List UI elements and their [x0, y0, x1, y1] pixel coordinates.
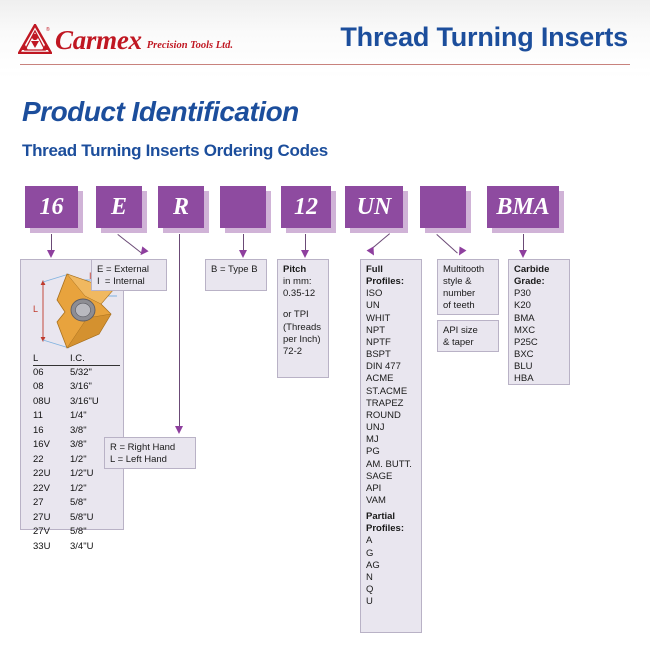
- table-cell-ic: 5/8": [70, 496, 120, 511]
- table-cell-l: 22V: [33, 482, 70, 497]
- full-profile-item: WHIT: [366, 313, 416, 325]
- logo-wordmark: Carmex: [55, 27, 142, 54]
- partial-profiles-title-1: Partial: [366, 511, 416, 523]
- code-box-type[interactable]: [220, 186, 266, 228]
- pitch-tpi-label: or TPI: [283, 309, 323, 321]
- table-cell-l: 33U: [33, 540, 70, 555]
- table-cell-ic: 1/4": [70, 409, 120, 424]
- internal-line: I = Internal: [97, 276, 161, 288]
- table-cell-ic: 5/8": [70, 525, 120, 540]
- table-cell-ic: 3/16": [70, 380, 120, 395]
- grade-item: P30: [514, 288, 564, 300]
- code-box-pitch[interactable]: 12: [281, 186, 331, 228]
- pitch-tpi-range: 72-2: [283, 346, 323, 358]
- table-cell-l: 22: [33, 453, 70, 468]
- callout-insert-dimensions: L I.C. L I.C. 065/32"083/16"08U3/16"U111…: [20, 259, 124, 530]
- multitooth-line-2: style &: [443, 276, 493, 288]
- table-row: 08U3/16"U: [33, 395, 137, 410]
- full-profiles-title-2: Profiles:: [366, 276, 416, 288]
- full-profile-item: ACME: [366, 373, 416, 385]
- connector-arrow-multitooth: [456, 247, 467, 258]
- callout-api: API size & taper: [437, 320, 499, 352]
- table-cell-l: 08U: [33, 395, 70, 410]
- full-profile-item: PG: [366, 446, 416, 458]
- table-row: 27U5/8"U: [33, 511, 137, 526]
- connector-line-multitooth: [436, 234, 457, 253]
- grade-item: HBA: [514, 373, 564, 385]
- full-profile-item: VAM: [366, 495, 416, 507]
- table-row: 22U1/2"U: [33, 467, 137, 482]
- page-header: ® Carmex Precision Tools Ltd. Thread Tur…: [0, 0, 650, 72]
- page-title: Thread Turning Inserts: [340, 22, 628, 53]
- carmex-triangle-logo-icon: ®: [18, 24, 52, 54]
- full-profile-item: ROUND: [366, 410, 416, 422]
- section-title: Product Identification: [22, 96, 299, 128]
- pitch-spacer: [283, 300, 323, 309]
- table-row: 22V1/2": [33, 482, 137, 497]
- multitooth-line-1: Multitooth: [443, 264, 493, 276]
- callout-pitch: Pitch in mm: 0.35-12 or TPI (Threads per…: [277, 259, 329, 378]
- table-cell-ic: 3/4"U: [70, 540, 120, 555]
- full-profile-item: MJ: [366, 434, 416, 446]
- table-cell-l: 22U: [33, 467, 70, 482]
- connector-arrow-profiles: [367, 247, 378, 258]
- grade-item: MXC: [514, 325, 564, 337]
- full-profile-item: UNJ: [366, 422, 416, 434]
- callout-external-internal: E = External I = Internal: [91, 259, 167, 291]
- pitch-mm-label: in mm:: [283, 276, 323, 288]
- code-box-hand[interactable]: R: [158, 186, 204, 228]
- full-profile-item: SAGE: [366, 471, 416, 483]
- full-profile-item: NPT: [366, 325, 416, 337]
- connector-arrow-type: [239, 250, 247, 258]
- table-cell-ic: 1/2"U: [70, 467, 120, 482]
- connector-arrow-pitch: [301, 250, 309, 258]
- partial-profile-item: Q: [366, 584, 416, 596]
- connector-arrow-external: [137, 246, 148, 257]
- full-profile-item: DIN 477: [366, 361, 416, 373]
- page-root: ® Carmex Precision Tools Ltd. Thread Tur…: [0, 0, 650, 650]
- svg-text:®: ®: [46, 26, 50, 33]
- grade-title-2: Grade:: [514, 276, 564, 288]
- left-hand-line: L = Left Hand: [110, 454, 190, 466]
- multitooth-line-3: number: [443, 288, 493, 300]
- partial-profile-item: AG: [366, 560, 416, 572]
- grade-item: P25C: [514, 337, 564, 349]
- pitch-mm-range: 0.35-12: [283, 288, 323, 300]
- table-cell-ic: 1/2": [70, 482, 120, 497]
- connector-arrow-hand: [175, 426, 183, 434]
- callout-profiles: Full Profiles: ISOUNWHITNPTNPTFBSPTDIN 4…: [360, 259, 422, 633]
- header-divider: [20, 64, 630, 65]
- partial-profile-item: A: [366, 535, 416, 547]
- pitch-tpi-desc1: (Threads: [283, 322, 323, 334]
- table-row: 163/8": [33, 424, 137, 439]
- table-cell-ic: 3/8": [70, 424, 120, 439]
- connector-arrow-grade: [519, 250, 527, 258]
- table-row: 065/32": [33, 366, 137, 381]
- external-line: E = External: [97, 264, 161, 276]
- table-cell-ic: 3/16"U: [70, 395, 120, 410]
- full-profile-item: AM. BUTT.: [366, 459, 416, 471]
- table-cell-l: 16V: [33, 438, 70, 453]
- table-cell-l: 27V: [33, 525, 70, 540]
- grade-item: BMA: [514, 313, 564, 325]
- callout-hand: R = Right Hand L = Left Hand: [104, 437, 196, 469]
- full-profiles-list: ISOUNWHITNPTNPTFBSPTDIN 477ACMEST.ACMETR…: [366, 288, 416, 507]
- table-cell-l: 08: [33, 380, 70, 395]
- dimension-label-l: L: [33, 304, 38, 316]
- full-profile-item: NPTF: [366, 337, 416, 349]
- code-box-profile[interactable]: UN: [345, 186, 403, 228]
- right-hand-line: R = Right Hand: [110, 442, 190, 454]
- full-profile-item: TRAPEZ: [366, 398, 416, 410]
- callout-type: B = Type B: [205, 259, 267, 291]
- pitch-tpi-desc2: per Inch): [283, 334, 323, 346]
- full-profile-item: ISO: [366, 288, 416, 300]
- table-row: 27V5/8": [33, 525, 137, 540]
- grade-item: K20: [514, 300, 564, 312]
- carmex-logo: ® Carmex Precision Tools Ltd.: [18, 24, 233, 54]
- api-line-1: API size: [443, 325, 493, 337]
- api-line-2: & taper: [443, 337, 493, 349]
- full-profile-item: ST.ACME: [366, 386, 416, 398]
- partial-profiles-list: AGAGNQU: [366, 535, 416, 608]
- table-cell-l: 27U: [33, 511, 70, 526]
- code-box-grade[interactable]: BMA: [487, 186, 559, 228]
- section-subtitle: Thread Turning Inserts Ordering Codes: [22, 141, 328, 161]
- type-line: B = Type B: [211, 264, 261, 276]
- grade-list: P30K20BMAMXCP25CBXCBLUHBA: [514, 288, 564, 385]
- table-header-ic: I.C.: [70, 354, 120, 366]
- logo-tagline: Precision Tools Ltd.: [147, 41, 233, 52]
- partial-profile-item: U: [366, 596, 416, 608]
- pitch-title: Pitch: [283, 264, 323, 276]
- full-profile-item: API: [366, 483, 416, 495]
- table-cell-l: 16: [33, 424, 70, 439]
- callout-carbide-grade: Carbide Grade: P30K20BMAMXCP25CBXCBLUHBA: [508, 259, 570, 385]
- table-cell-l: 27: [33, 496, 70, 511]
- callout-multitooth: Multitooth style & number of teeth: [437, 259, 499, 315]
- table-row: 275/8": [33, 496, 137, 511]
- table-row: 33U3/4"U: [33, 540, 137, 555]
- table-cell-ic: 5/32": [70, 366, 120, 381]
- table-row: 083/16": [33, 380, 137, 395]
- code-box-external-internal[interactable]: E: [96, 186, 142, 228]
- full-profile-item: UN: [366, 300, 416, 312]
- table-row: 111/4": [33, 409, 137, 424]
- table-cell-l: 11: [33, 409, 70, 424]
- code-box-size[interactable]: 16: [25, 186, 78, 228]
- grade-title-1: Carbide: [514, 264, 564, 276]
- table-cell-ic: 5/8"U: [70, 511, 120, 526]
- table-header-l: L: [33, 354, 70, 366]
- grade-item: BXC: [514, 349, 564, 361]
- multitooth-line-4: of teeth: [443, 300, 493, 312]
- partial-profile-item: N: [366, 572, 416, 584]
- table-cell-l: 06: [33, 366, 70, 381]
- connector-arrow-size: [47, 250, 55, 258]
- partial-profile-item: G: [366, 548, 416, 560]
- full-profiles-title-1: Full: [366, 264, 416, 276]
- grade-item: BLU: [514, 361, 564, 373]
- table-header-row: L I.C.: [33, 354, 137, 366]
- connector-line-hand: [179, 234, 180, 429]
- partial-profiles-title-2: Profiles:: [366, 523, 416, 535]
- code-box-multitooth[interactable]: [420, 186, 466, 228]
- full-profile-item: BSPT: [366, 349, 416, 361]
